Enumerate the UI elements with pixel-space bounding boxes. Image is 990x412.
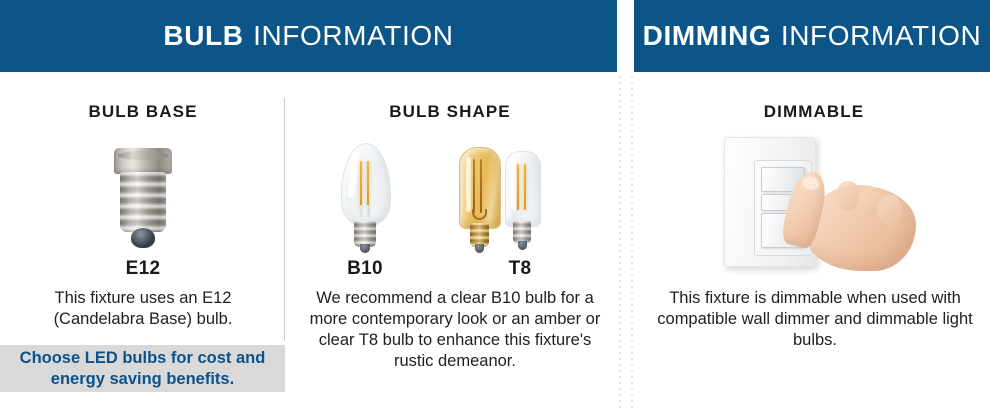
- hand-knuckle-three: [878, 195, 902, 225]
- b10-stem: [360, 205, 370, 217]
- dimming-information-header-rest: INFORMATION: [781, 20, 982, 52]
- t8-clear-filament-left: [517, 164, 519, 210]
- bulb-information-header: BULB INFORMATION: [0, 0, 617, 72]
- bulb-base-heading: BULB BASE: [43, 102, 243, 122]
- dimming-information-header: DIMMING INFORMATION: [634, 0, 990, 72]
- panel-divider-dotted-left: [619, 76, 621, 412]
- t8-amber-bulb-image: [459, 147, 499, 255]
- t8-clear-filament-right: [524, 164, 526, 210]
- hand-illustration: [774, 151, 917, 273]
- panel-divider-dotted-right: [631, 76, 633, 412]
- bulb-base-shape-divider: [284, 98, 285, 341]
- hand-knuckle-one: [836, 181, 860, 211]
- e12-label: E12: [43, 258, 243, 280]
- dimmable-heading: DIMMABLE: [714, 102, 914, 122]
- t8-clear-contact-tip: [518, 241, 527, 250]
- dimming-information-header-bold: DIMMING: [643, 20, 772, 52]
- led-callout-box: Choose LED bulbs for cost and energy sav…: [0, 345, 285, 392]
- bulb-base-description: This fixture uses an E12 (Candelabra Bas…: [8, 288, 278, 330]
- b10-filament-right: [367, 161, 369, 211]
- wall-dimmer-image: [712, 133, 917, 273]
- bulb-information-header-bold: BULB: [163, 20, 243, 52]
- t8-amber-filament-right: [480, 159, 482, 213]
- b10-contact-tip: [360, 244, 370, 253]
- dimmable-description: This fixture is dimmable when used with …: [650, 288, 980, 351]
- bulb-and-dimming-information-graphic: BULB INFORMATION DIMMING INFORMATION BUL…: [0, 0, 990, 412]
- e12-base-image: [114, 148, 172, 250]
- bulb-shape-heading: BULB SHAPE: [350, 102, 550, 122]
- t8-label: T8: [420, 258, 620, 280]
- t8-clear-glass: [505, 151, 541, 227]
- b10-bulb-image: [341, 143, 389, 255]
- led-callout-text: Choose LED bulbs for cost and energy sav…: [17, 348, 269, 390]
- t8-amber-filament-left: [473, 159, 475, 213]
- t8-clear-bulb-image: [505, 151, 539, 253]
- t8-amber-contact-tip: [475, 244, 484, 253]
- e12-collar: [114, 148, 172, 174]
- bulb-information-header-rest: INFORMATION: [253, 20, 454, 52]
- bulb-shape-description: We recommend a clear B10 bulb for a more…: [300, 288, 610, 372]
- e12-contact-tip: [131, 228, 155, 248]
- b10-filament-left: [360, 161, 362, 211]
- e12-threads: [120, 172, 166, 232]
